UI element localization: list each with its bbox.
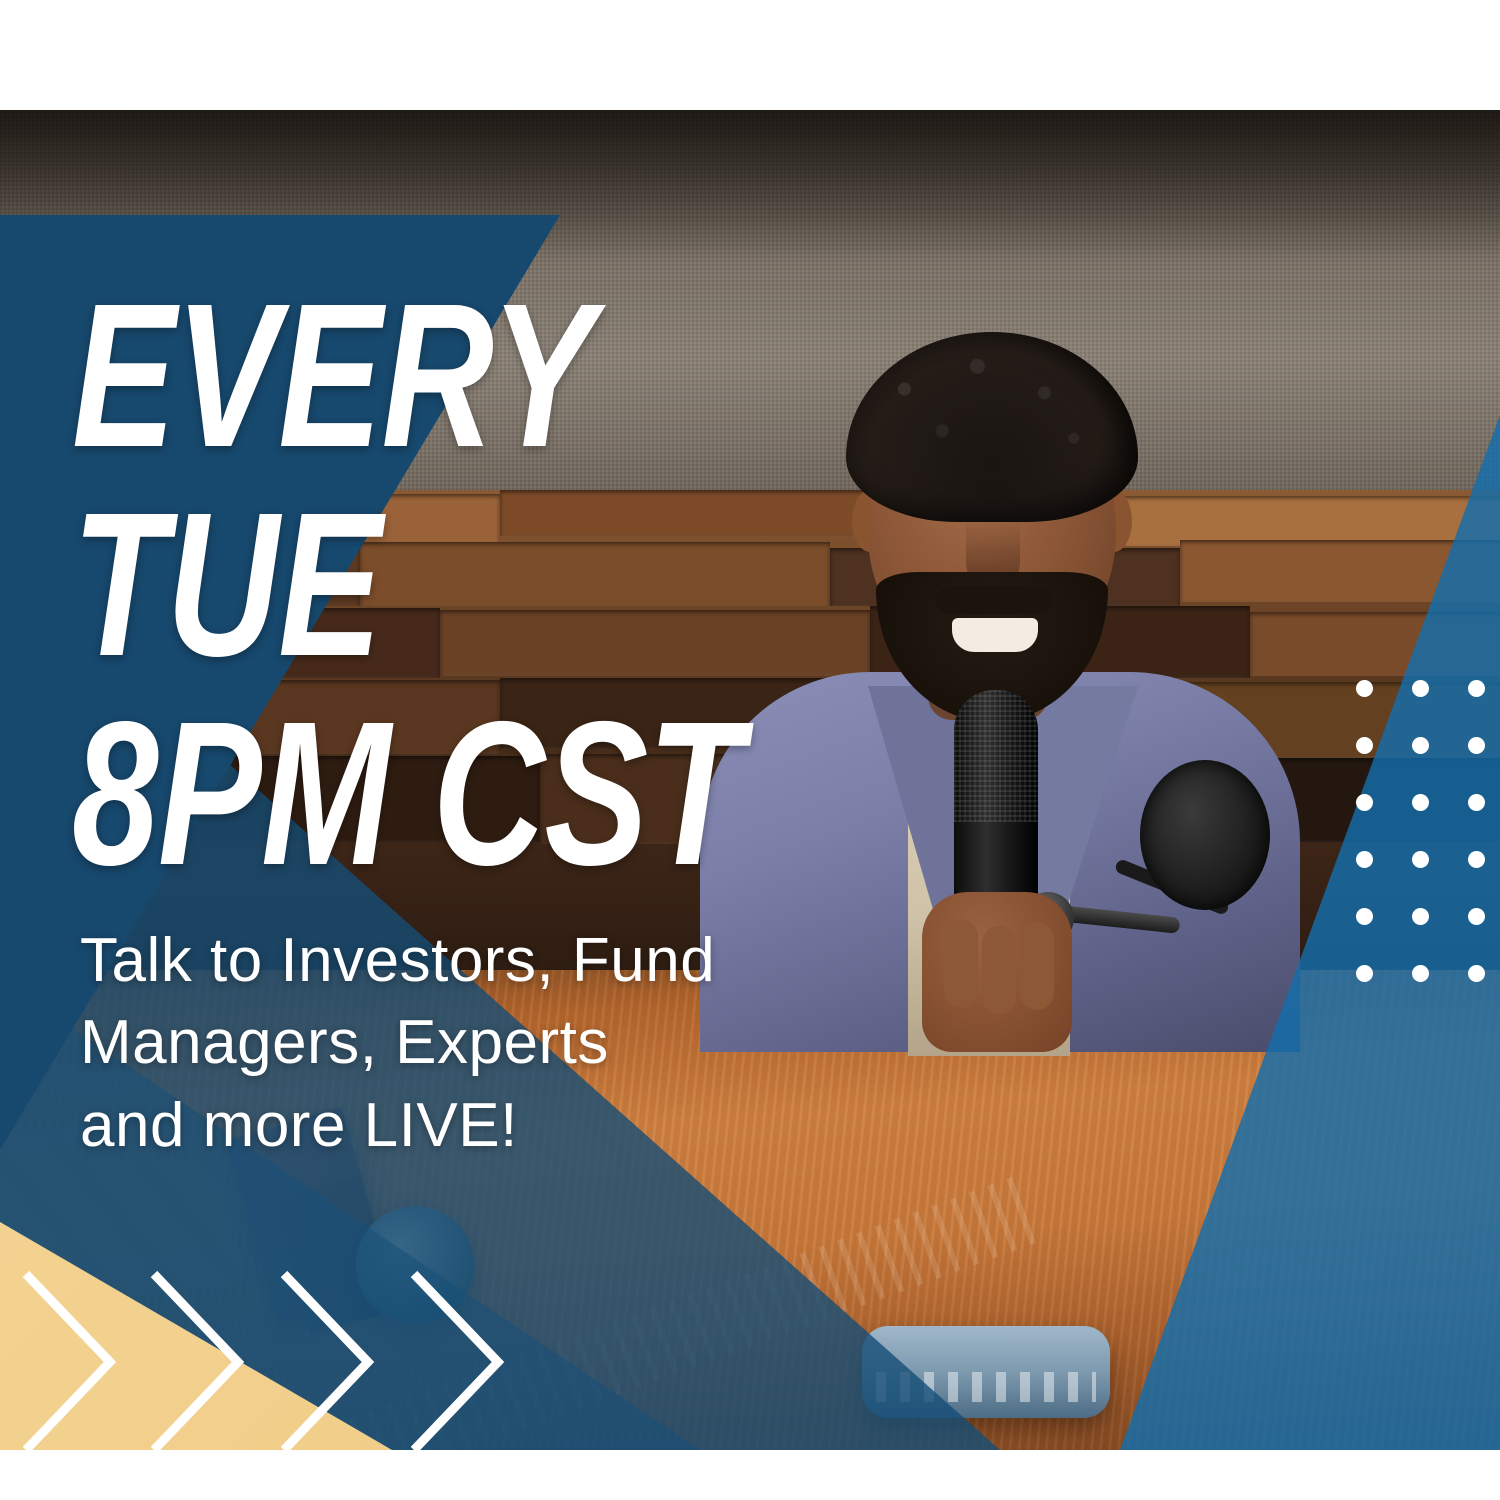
- grid-dot: [1412, 737, 1429, 754]
- pop-filter: [1140, 760, 1270, 910]
- finger: [1020, 922, 1054, 1010]
- grid-dot: [1356, 908, 1373, 925]
- chevron-right-icon: [14, 1262, 126, 1462]
- grid-dot: [1412, 908, 1429, 925]
- chevron-right-icon: [402, 1262, 514, 1462]
- hair-texture: [846, 332, 1138, 522]
- frame-band-bottom: [0, 1450, 1500, 1500]
- hair: [846, 332, 1138, 522]
- grid-dot: [1468, 794, 1485, 811]
- subheadline-line-3: and more LIVE!: [80, 1085, 900, 1167]
- grid-dot: [1356, 794, 1373, 811]
- dot-grid-decoration: [1356, 680, 1500, 1022]
- smile: [952, 618, 1038, 652]
- headline-line-3: 8PM CST: [72, 694, 680, 895]
- microphone-grill: [954, 690, 1038, 822]
- grid-dot: [1356, 680, 1373, 697]
- grid-dot: [1468, 680, 1485, 697]
- grid-dot: [1468, 737, 1485, 754]
- grid-dot: [1412, 794, 1429, 811]
- headline-line-2: TUE: [72, 485, 680, 686]
- grid-dot: [1356, 737, 1373, 754]
- chevron-right-icon: [272, 1262, 384, 1462]
- finger: [982, 926, 1016, 1014]
- subheadline-block: Talk to Investors, Fund Managers, Expert…: [80, 920, 900, 1167]
- finger: [944, 920, 978, 1008]
- grid-dot: [1468, 851, 1485, 868]
- chevron-right-icon: [142, 1262, 254, 1462]
- grid-dot: [1468, 908, 1485, 925]
- grid-dot: [1412, 965, 1429, 982]
- microphone: [954, 690, 1038, 920]
- grid-dot: [1412, 680, 1429, 697]
- grid-dot: [1356, 851, 1373, 868]
- headline-line-1: EVERY: [72, 276, 680, 477]
- grid-dot: [1356, 965, 1373, 982]
- subheadline-line-2: Managers, Experts: [80, 1002, 900, 1084]
- frame-band-top: [0, 0, 1500, 110]
- subheadline-line-1: Talk to Investors, Fund: [80, 920, 900, 1002]
- headline-block: EVERY TUE 8PM CST: [72, 276, 872, 895]
- mustache: [936, 586, 1052, 614]
- promo-graphic: EVERY TUE 8PM CST Talk to Investors, Fun…: [0, 0, 1500, 1500]
- grid-dot: [1468, 965, 1485, 982]
- grid-dot: [1412, 851, 1429, 868]
